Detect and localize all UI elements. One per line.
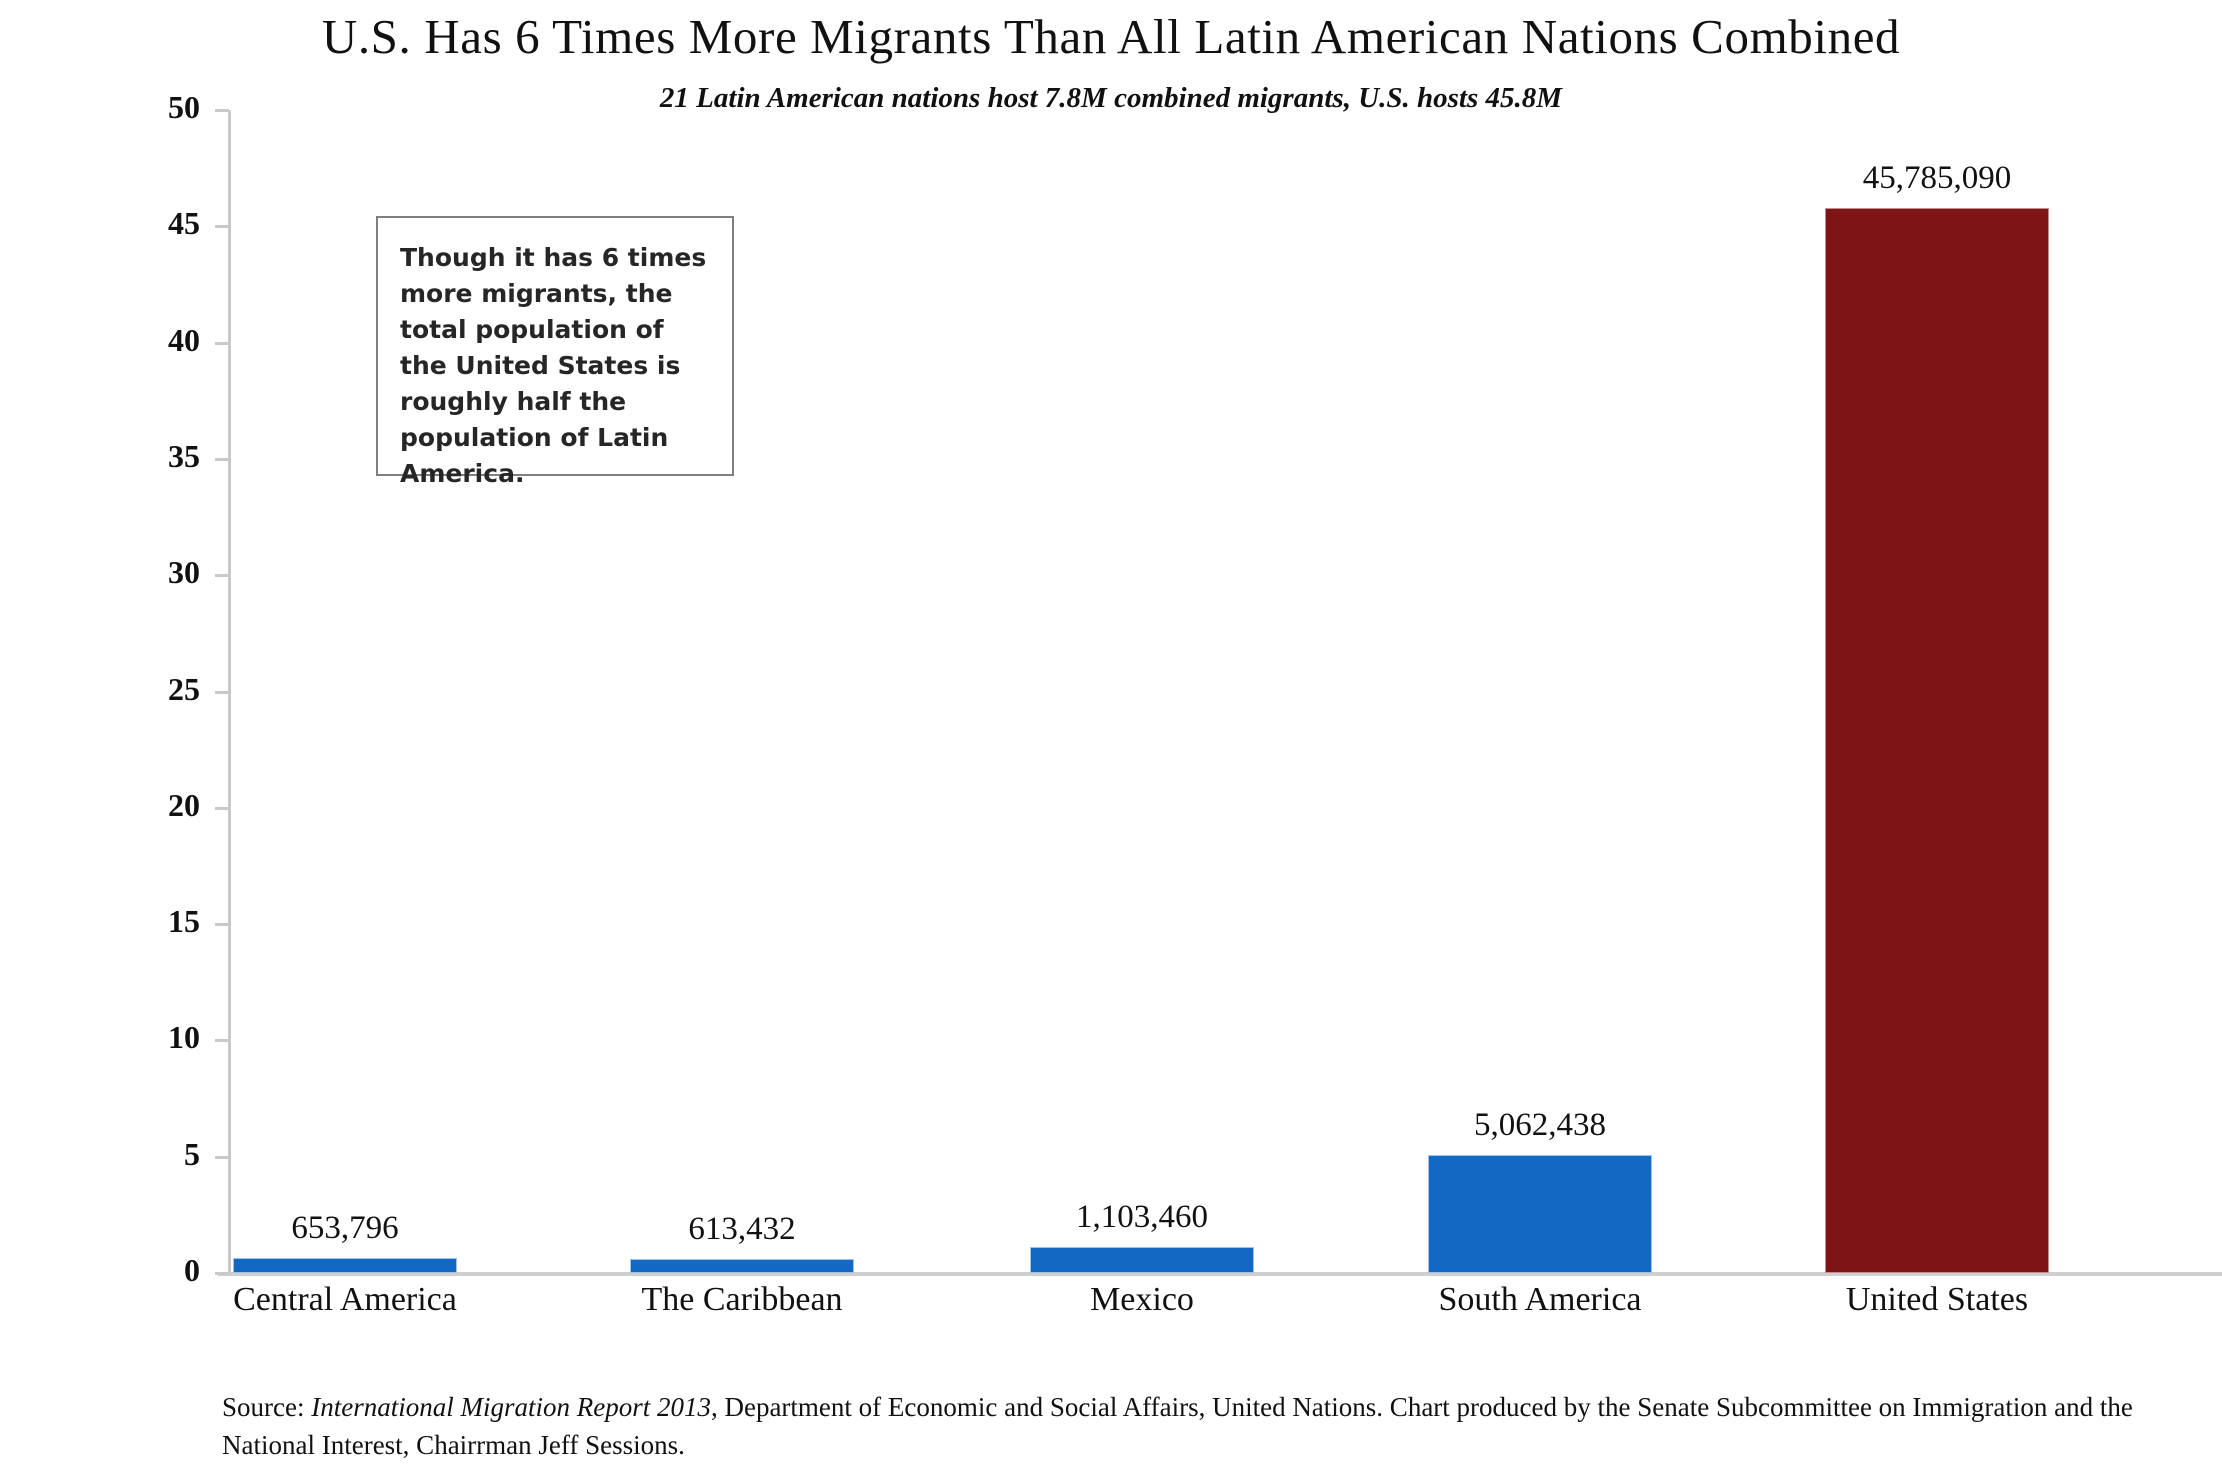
bar-value-label: 653,796 xyxy=(173,1210,517,1247)
chart-canvas: U.S. Has 6 Times More Migrants Than All … xyxy=(0,0,2222,1475)
y-tick-label: 50 xyxy=(116,89,200,126)
x-category-label: Mexico xyxy=(950,1281,1334,1319)
y-tick-label: 30 xyxy=(116,554,200,591)
y-tick-label: 35 xyxy=(116,438,200,475)
bar-value-label: 45,785,090 xyxy=(1765,160,2109,197)
annotation-callout-text: Though it has 6 times more migrants, the… xyxy=(400,240,712,492)
x-category-label: South America xyxy=(1348,1281,1732,1319)
y-tick-mark xyxy=(215,923,229,926)
x-category-label: United States xyxy=(1745,1281,2129,1319)
y-tick-mark xyxy=(215,691,229,694)
bar-the-caribbean[interactable] xyxy=(630,1259,854,1273)
y-tick-label: 40 xyxy=(116,322,200,359)
bar-united-states[interactable] xyxy=(1825,208,2049,1273)
y-tick-label: 45 xyxy=(116,205,200,242)
bar-south-america[interactable] xyxy=(1428,1155,1652,1273)
y-tick-label: 20 xyxy=(116,787,200,824)
bar-value-label: 5,062,438 xyxy=(1368,1107,1712,1144)
source-prefix: Source: xyxy=(222,1392,304,1422)
y-tick-label: 15 xyxy=(116,903,200,940)
y-tick-label: 10 xyxy=(116,1019,200,1056)
y-tick-mark xyxy=(215,109,229,112)
x-category-label: The Caribbean xyxy=(550,1281,934,1319)
y-tick-mark xyxy=(215,1039,229,1042)
y-tick-label: 5 xyxy=(116,1136,200,1173)
bar-value-label: 613,432 xyxy=(570,1211,914,1248)
bar-value-label: 1,103,460 xyxy=(970,1199,1314,1236)
y-tick-mark xyxy=(215,574,229,577)
chart-subtitle: 21 Latin American nations host 7.8M comb… xyxy=(0,82,2222,115)
y-axis-title: Number of Migrants (Millions) xyxy=(28,0,84,222)
y-tick-mark xyxy=(215,458,229,461)
y-tick-mark xyxy=(215,342,229,345)
y-tick-mark xyxy=(215,225,229,228)
x-category-label: Central America xyxy=(153,1281,537,1319)
y-tick-label: 25 xyxy=(116,671,200,708)
y-tick-mark xyxy=(215,1272,229,1275)
annotation-callout-box: Though it has 6 times more migrants, the… xyxy=(376,216,734,476)
y-tick-mark xyxy=(215,807,229,810)
y-tick-mark xyxy=(215,1156,229,1159)
bar-mexico[interactable] xyxy=(1030,1247,1254,1273)
bar-central-america[interactable] xyxy=(233,1258,457,1273)
source-note: Source: International Migration Report 2… xyxy=(222,1388,2142,1464)
source-report-title: International Migration Report 2013 xyxy=(311,1392,711,1422)
page-title: U.S. Has 6 Times More Migrants Than All … xyxy=(0,8,2222,65)
